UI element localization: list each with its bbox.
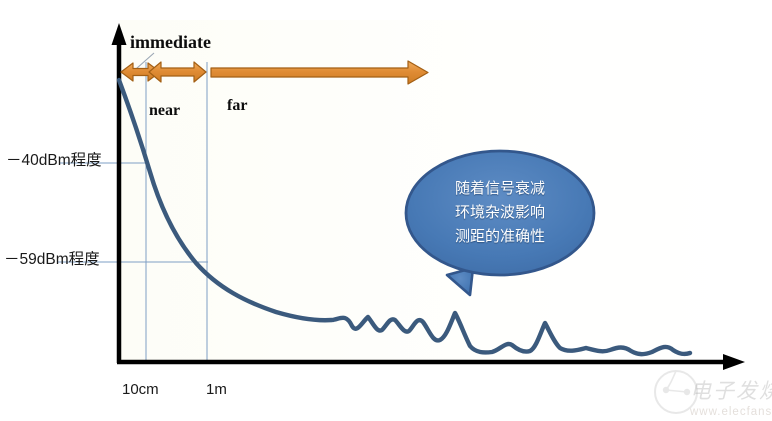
chart-canvas: －40dBm程度 －59dBm程度 10cm 1m immediate near… <box>0 0 772 421</box>
x-axis-tick-10cm: 10cm <box>122 382 159 399</box>
band-label-near: near <box>149 102 180 120</box>
chart-plot-area <box>0 0 772 421</box>
band-label-far: far <box>227 97 247 115</box>
y-axis-label-59dbm: －59dBm程度 <box>4 251 100 268</box>
x-axis-tick-1m: 1m <box>206 382 227 399</box>
y-axis-label-40dbm: －40dBm程度 <box>6 152 102 169</box>
watermark-logo-icon <box>655 371 697 413</box>
band-label-immediate: immediate <box>130 33 211 53</box>
